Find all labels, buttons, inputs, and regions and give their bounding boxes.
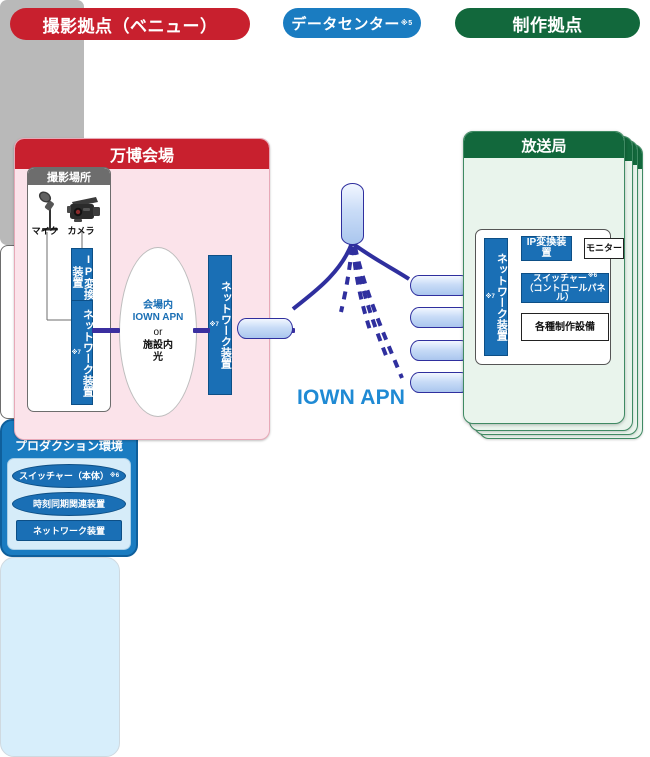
link-shooting-to-ellipse	[92, 328, 120, 333]
header-pill-datacenter-note: ※5	[401, 19, 413, 27]
venue-network-device-box: ネットワーク装置 ※7	[71, 300, 93, 405]
broadcast-card-title: 放送局	[464, 132, 624, 158]
header-pill-datacenter: データセンター※5	[283, 8, 421, 38]
broadcast-switcher-label: スイッチャー	[533, 273, 587, 283]
venue-network-device-note: ※7	[72, 350, 81, 356]
microphone-label: マイク	[30, 224, 60, 237]
venue-ellipse-or: or	[154, 327, 163, 338]
header-pill-datacenter-label: データセンター	[291, 13, 400, 34]
broadcast-production-equipment: 各種制作設備	[521, 313, 609, 341]
pipe-datacenter-to-apn	[341, 183, 364, 245]
pipe-apn-to-broadcast-3	[410, 340, 470, 361]
datacenter-item-switcher: スイッチャー（本体）※6	[12, 464, 126, 488]
broadcast-ip-converter-label: IP変換装置	[522, 238, 571, 259]
broadcast-production-equipment-label: 各種制作設備	[535, 322, 595, 333]
apn-link-lines	[293, 243, 409, 378]
broadcast-switcher-sublabel: （コントロールパネル）	[522, 284, 608, 303]
camera-label: カメラ	[63, 224, 99, 237]
venue-ellipse-line5: 光	[153, 352, 163, 363]
broadcast-switcher-note: ※6	[588, 273, 597, 279]
broadcast-network-device-label: ネットワーク装置	[495, 253, 507, 341]
shooting-location-card: 撮影場所	[27, 167, 111, 412]
datacenter-item-switcher-note: ※6	[110, 472, 119, 479]
broadcast-network-device: ネットワーク装置 ※7	[484, 238, 508, 356]
apn-cloud	[0, 557, 120, 757]
shooting-location-title: 撮影場所	[28, 168, 110, 185]
datacenter-item-timesync: 時刻同期関連装置	[12, 492, 126, 516]
header-pill-production-label: 制作拠点	[513, 11, 583, 36]
datacenter-inner-panel: スイッチャー（本体）※6 時刻同期関連装置 ネットワーク装置	[7, 458, 131, 550]
broadcast-monitor: モニター	[584, 238, 624, 259]
datacenter-item-timesync-label: 時刻同期関連装置	[33, 497, 105, 510]
datacenter-item-switcher-label: スイッチャー（本体）	[19, 469, 109, 482]
venue-ellipse-line2: IOWN APN	[133, 312, 184, 323]
venue-ellipse-line4: 施設内	[143, 340, 173, 351]
datacenter-title-line2: プロダクション環境	[15, 439, 123, 453]
datacenter-item-network-label: ネットワーク装置	[33, 524, 105, 537]
pipe-apn-to-broadcast-2	[410, 307, 470, 328]
venue-network-device-label: ネットワーク装置	[81, 309, 93, 397]
venue-ellipse-line1: 会場内	[143, 300, 173, 311]
venue-transport-ellipse: 会場内 IOWN APN or 施設内 光	[119, 247, 197, 417]
datacenter-item-network: ネットワーク装置	[16, 520, 122, 541]
pipe-apn-to-broadcast-1	[410, 275, 470, 296]
venue-card-title: 万博会場	[15, 139, 269, 169]
pipe-venue-to-apn	[237, 318, 293, 339]
pipe-apn-to-broadcast-4	[410, 372, 470, 393]
venue-edge-network-device-note: ※7	[210, 322, 219, 328]
diagram-root: 撮影拠点（ベニュー） データセンター※5 制作拠点 万博会場 撮影場所	[0, 0, 650, 453]
venue-edge-network-device-label: ネットワーク装置	[219, 281, 231, 369]
broadcast-switcher-panel: スイッチャー※6 （コントロールパネル）	[521, 273, 609, 303]
broadcast-network-device-note: ※7	[486, 294, 495, 300]
broadcast-ip-converter: IP変換装置	[521, 236, 572, 261]
header-pill-venue: 撮影拠点（ベニュー）	[10, 8, 250, 40]
link-ellipse-to-edge	[193, 328, 210, 333]
venue-ip-converter-label: IP変換装置	[70, 249, 93, 305]
apn-label: IOWN APN	[297, 386, 409, 410]
venue-edge-network-device: ネットワーク装置 ※7	[208, 255, 232, 395]
broadcast-monitor-label: モニター	[586, 244, 622, 254]
header-pill-production: 制作拠点	[455, 8, 640, 38]
venue-ip-converter-box: IP変換装置	[71, 248, 93, 306]
header-pill-venue-label: 撮影拠点（ベニュー）	[43, 12, 218, 37]
